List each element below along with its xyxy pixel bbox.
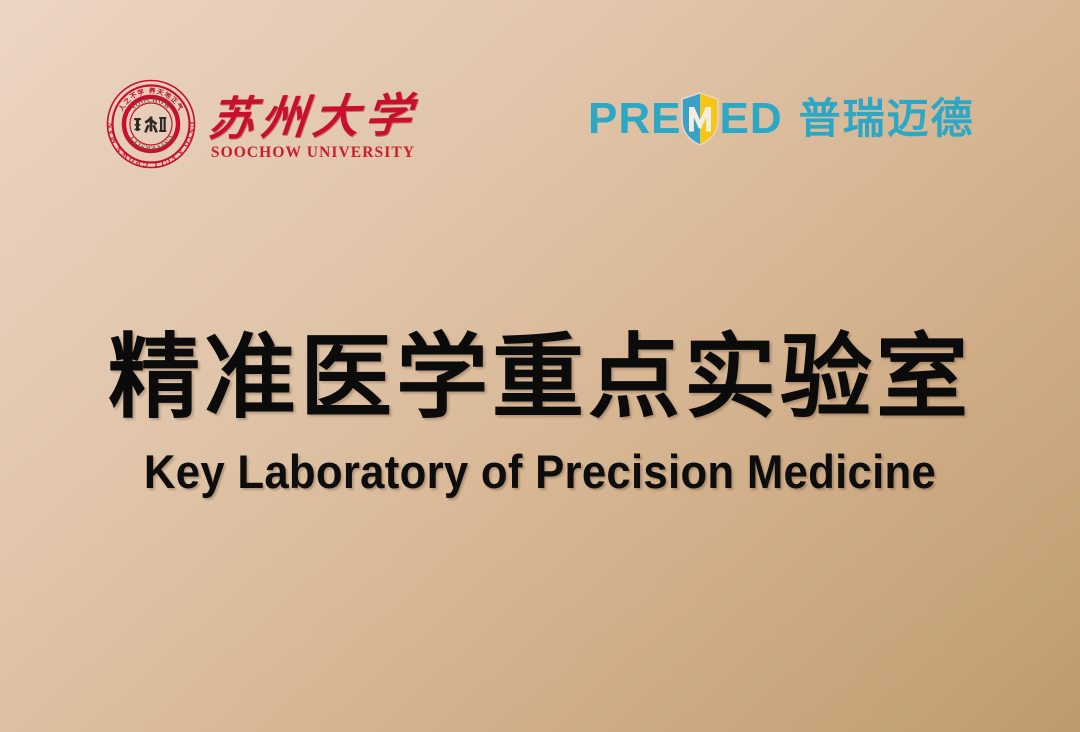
premed-wordmark-pre: PRE (588, 96, 681, 142)
premed-chinese-name: 普瑞迈德 (799, 96, 975, 142)
soochow-university-seal-icon: UNTO A FULL GROWN MAN 人之不学 养天地正气 SOOCHOW (105, 78, 197, 170)
plaque-face: UNTO A FULL GROWN MAN 人之不学 养天地正气 SOOCHOW (0, 0, 1080, 732)
frame-beaded-strip: UNTO A FULL GROWN MAN 人之不学 养天地正气 SOOCHOW (0, 0, 1080, 732)
svg-text:UNIVERSITY: UNIVERSITY (128, 134, 175, 152)
soochow-english-name: SOOCHOW UNIVERSITY (211, 144, 415, 162)
award-plaque: UNTO A FULL GROWN MAN 人之不学 养天地正气 SOOCHOW (0, 0, 1080, 732)
premed-logo: PRE (588, 92, 975, 146)
frame-gold-band-inner: UNTO A FULL GROWN MAN 人之不学 养天地正气 SOOCHOW (0, 0, 1080, 732)
plaque-title-chinese: 精准医学重点实验室 (0, 322, 1080, 434)
soochow-calligraphy: 苏州大学 (206, 88, 420, 144)
frame-cream-band: UNTO A FULL GROWN MAN 人之不学 养天地正气 SOOCHOW (0, 0, 1080, 732)
frame-gold-band-outer: UNTO A FULL GROWN MAN 人之不学 养天地正气 SOOCHOW (0, 0, 1080, 732)
premed-wordmark-ed: ED (719, 96, 782, 142)
frame-inner-edge: UNTO A FULL GROWN MAN 人之不学 养天地正气 SOOCHOW (0, 0, 1080, 732)
frame-outer-bevel: UNTO A FULL GROWN MAN 人之不学 养天地正气 SOOCHOW (0, 0, 1080, 732)
plaque-title-english: Key Laboratory of Precision Medicine (38, 444, 1042, 500)
logo-row: UNTO A FULL GROWN MAN 人之不学 养天地正气 SOOCHOW (0, 78, 1080, 198)
plaque-titles: 精准医学重点实验室 Key Laboratory of Precision Me… (0, 322, 1080, 500)
soochow-university-logo: UNTO A FULL GROWN MAN 人之不学 养天地正气 SOOCHOW (105, 78, 417, 170)
premed-shield-m-icon (680, 92, 720, 146)
soochow-university-wordmark: 苏州大学 SOOCHOW UNIVERSITY (209, 87, 417, 162)
